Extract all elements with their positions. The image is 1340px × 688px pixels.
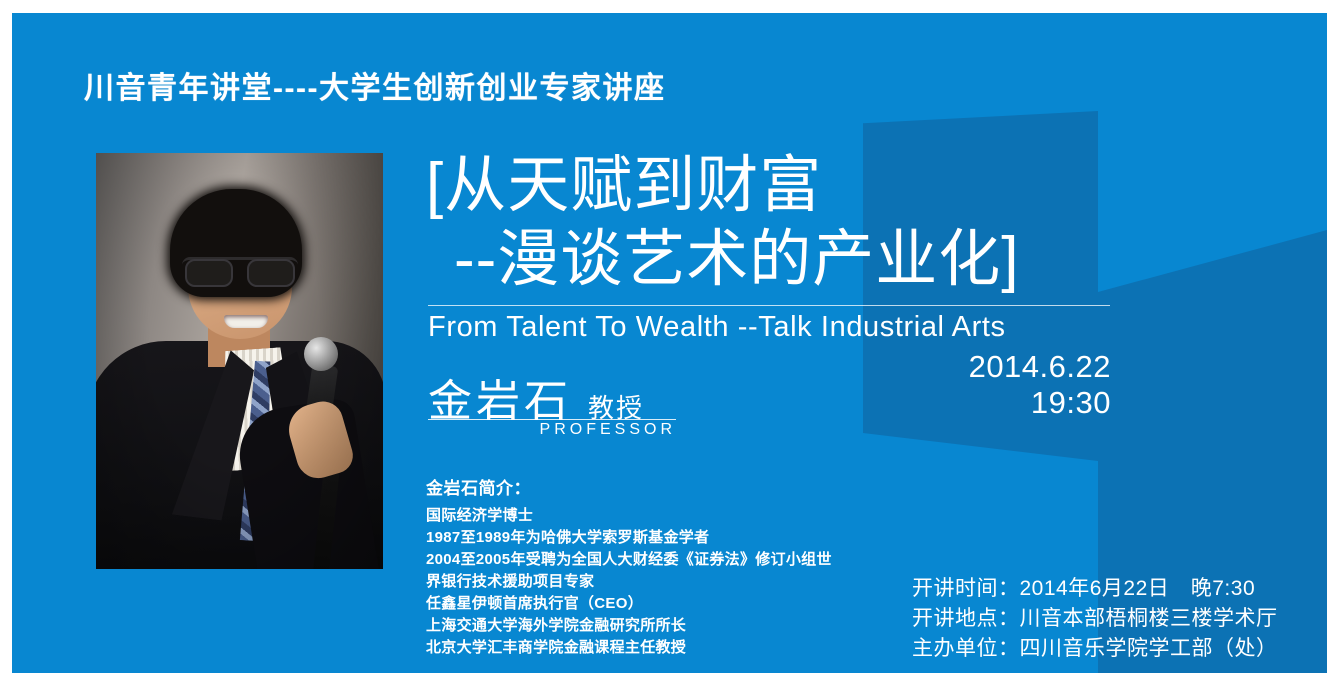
event-details: 开讲时间：2014年6月22日 晚7:30 开讲地点：川音本部梧桐楼三楼学术厅 …: [912, 574, 1278, 664]
event-venue-value: 川音本部梧桐楼三楼学术厅: [1020, 607, 1278, 630]
bio-line: 任鑫星伊顿首席执行官（CEO）: [426, 593, 832, 615]
bio-heading: 金岩石简介：: [426, 474, 832, 499]
speaker-divider: [428, 419, 676, 420]
event-organizer-label: 主办单位：: [912, 637, 1020, 660]
lecture-title: [从天赋到财富 --漫谈艺术的产业化]: [426, 149, 1020, 297]
event-time-value: 2014年6月22日 晚7:30: [1020, 577, 1256, 600]
photo-vignette: [96, 153, 383, 569]
bio-line: 1987至1989年为哈佛大学索罗斯基金学者: [426, 527, 832, 549]
bio-line-list: 国际经济学博士 1987至1989年为哈佛大学索罗斯基金学者 2004至2005…: [426, 505, 832, 659]
bio-line: 上海交通大学海外学院金融研究所所长: [426, 615, 832, 637]
event-detail-row: 开讲时间：2014年6月22日 晚7:30: [912, 574, 1278, 604]
speaker-role-english: PROFESSOR: [428, 421, 676, 439]
speaker-photo: [96, 153, 383, 569]
poster-canvas: 川音青年讲堂----大学生创新创业专家讲座 [从天赋到财富 --漫谈艺术的产业化…: [12, 13, 1327, 673]
event-detail-row: 开讲地点：川音本部梧桐楼三楼学术厅: [912, 604, 1278, 634]
event-date: 2014.6.22: [969, 349, 1111, 385]
event-organizer-value: 四川音乐学院学工部（处）: [1020, 637, 1278, 660]
event-time-label: 开讲时间：: [912, 577, 1020, 600]
event-detail-row: 主办单位：四川音乐学院学工部（处）: [912, 634, 1278, 664]
bio-line: 北京大学汇丰商学院金融课程主任教授: [426, 637, 832, 659]
bio-line: 国际经济学博士: [426, 505, 832, 527]
event-venue-label: 开讲地点：: [912, 607, 1020, 630]
poster-header-title: 川音青年讲堂----大学生创新创业专家讲座: [84, 63, 665, 107]
bio-line: 界银行技术援助项目专家: [426, 571, 832, 593]
lecture-subtitle-english: From Talent To Wealth --Talk Industrial …: [428, 311, 1006, 344]
bio-line: 2004至2005年受聘为全国人大财经委《证券法》修订小组世: [426, 549, 832, 571]
speaker-bio: 金岩石简介： 国际经济学博士 1987至1989年为哈佛大学索罗斯基金学者 20…: [426, 474, 832, 659]
subtitle-divider: [428, 305, 1110, 306]
event-time: 19:30: [1031, 385, 1111, 421]
lecture-title-line-1: [从天赋到财富: [426, 151, 822, 220]
lecture-title-line-2: --漫谈艺术的产业化]: [426, 223, 1020, 297]
